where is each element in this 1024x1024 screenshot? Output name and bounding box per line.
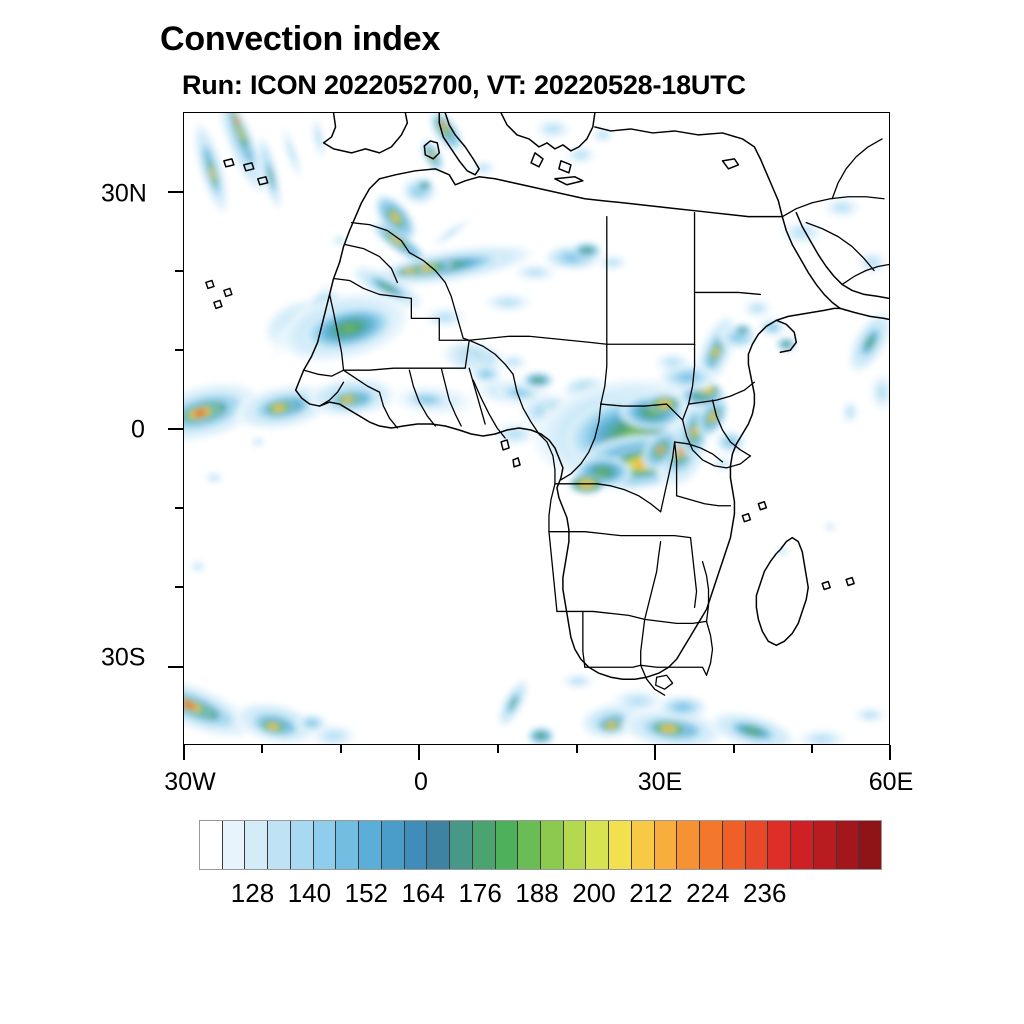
x-tick-20w: [261, 745, 263, 753]
colorbar-cell-21: [677, 821, 700, 869]
map-canvas: [184, 113, 889, 744]
colorbar-cell-27: [814, 821, 837, 869]
colorbar: [199, 820, 882, 870]
page-title: Convection index: [160, 20, 440, 59]
colorbar-cell-0: [200, 821, 223, 869]
x-tick-20e: [576, 745, 578, 753]
colorbar-tick-212: 212: [629, 878, 672, 909]
colorbar-cell-20: [655, 821, 678, 869]
colorbar-tick-152: 152: [345, 878, 388, 909]
x-tick-30w: [183, 745, 185, 760]
x-axis-label-0: 30W: [164, 768, 215, 797]
x-tick-10w: [340, 745, 342, 753]
y-axis-label-1: 0: [131, 416, 145, 445]
colorbar-cell-2: [245, 821, 268, 869]
colorbar-tick-164: 164: [402, 878, 445, 909]
colorbar-cell-1: [223, 821, 246, 869]
y-tick-0: [168, 428, 183, 430]
colorbar-cell-18: [609, 821, 632, 869]
x-tick-40e: [733, 745, 735, 753]
figure-subtitle: Run: ICON 2022052700, VT: 20220528-18UTC: [182, 70, 746, 101]
x-tick-60e: [889, 745, 891, 760]
colorbar-cell-12: [473, 821, 496, 869]
colorbar-tick-188: 188: [515, 878, 558, 909]
y-axis-label-2: 30S: [101, 644, 145, 673]
x-axis-label-2: 30E: [638, 768, 682, 797]
colorbar-cell-16: [564, 821, 587, 869]
colorbar-cell-7: [359, 821, 382, 869]
colorbar-cell-22: [700, 821, 723, 869]
x-tick-10e: [497, 745, 499, 753]
x-axis-label-3: 60E: [869, 768, 913, 797]
map-plot-area: [183, 112, 890, 745]
colorbar-tick-236: 236: [743, 878, 786, 909]
x-axis-label-1: 0: [414, 768, 428, 797]
colorbar-cell-8: [382, 821, 405, 869]
y-tick-30n: [168, 191, 183, 193]
y-tick-30s: [168, 666, 183, 668]
colorbar-cell-3: [268, 821, 291, 869]
y-tick-10s: [175, 507, 183, 509]
colorbar-cell-14: [518, 821, 541, 869]
colorbar-cell-28: [837, 821, 860, 869]
africa-convection-map: [184, 113, 889, 744]
colorbar-cell-5: [314, 821, 337, 869]
colorbar-cell-19: [632, 821, 655, 869]
x-tick-50e: [811, 745, 813, 753]
colorbar-cell-11: [450, 821, 473, 869]
colorbar-tick-224: 224: [686, 878, 729, 909]
colorbar-cell-25: [768, 821, 791, 869]
y-tick-20s: [175, 586, 183, 588]
colorbar-cell-17: [586, 821, 609, 869]
colorbar-cell-24: [746, 821, 769, 869]
colorbar-tick-176: 176: [458, 878, 501, 909]
colorbar-cell-23: [723, 821, 746, 869]
x-tick-30e: [654, 745, 656, 760]
colorbar-tick-128: 128: [231, 878, 274, 909]
colorbar-cell-13: [496, 821, 519, 869]
colorbar-cell-4: [291, 821, 314, 869]
colorbar-cell-26: [791, 821, 814, 869]
colorbar-cell-29: [859, 821, 881, 869]
colorbar-cell-6: [336, 821, 359, 869]
colorbar-tick-labels: 128140152164176188200212224236: [0, 878, 1024, 912]
colorbar-cell-15: [541, 821, 564, 869]
colorbar-cell-10: [427, 821, 450, 869]
y-tick-20n: [175, 270, 183, 272]
colorbar-tick-140: 140: [288, 878, 331, 909]
y-tick-10n: [175, 349, 183, 351]
colorbar-tick-200: 200: [572, 878, 615, 909]
colorbar-cell-9: [405, 821, 428, 869]
x-tick-0: [418, 745, 420, 760]
y-axis-label-0: 30N: [101, 180, 147, 209]
